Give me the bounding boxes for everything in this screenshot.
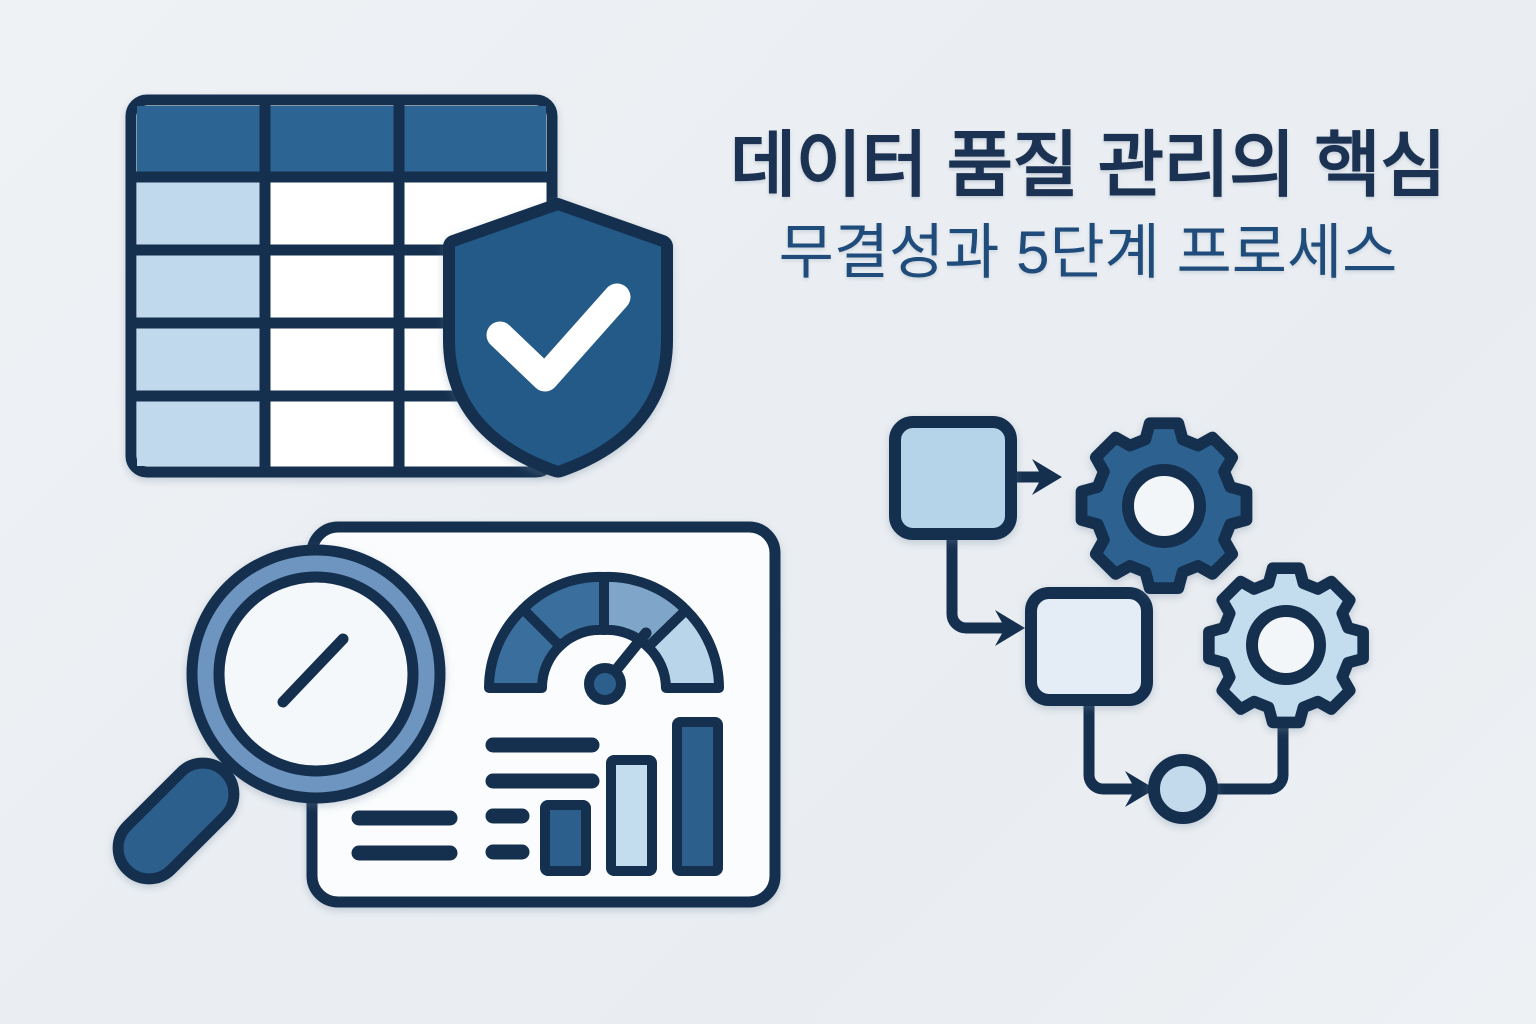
flow-node-box-1 — [895, 422, 1011, 534]
illustration-canvas: 데이터 품질 관리의 핵심 무결성과 5단계 프로세스 — [0, 0, 1536, 1024]
connector-box2-to-circle — [1089, 700, 1133, 789]
connector-box1-to-box2 — [952, 534, 1002, 628]
flow-gear-dark — [1082, 423, 1247, 588]
flow-node-box-2 — [1031, 593, 1147, 700]
flow-node-circle — [1154, 760, 1212, 818]
flow-gear-light — [1209, 568, 1363, 722]
process-flow-diagram — [0, 0, 1536, 1024]
